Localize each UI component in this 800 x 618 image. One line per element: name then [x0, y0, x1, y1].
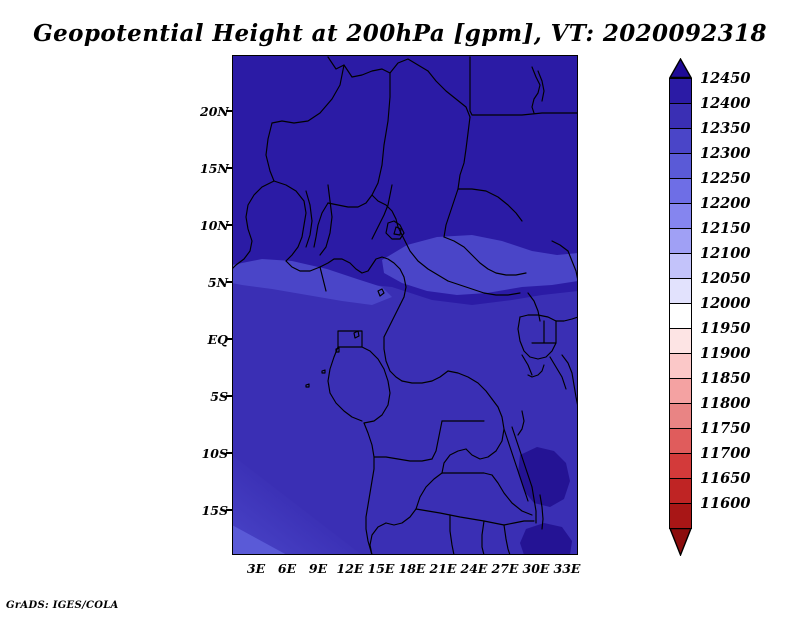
colorbar-band: [669, 253, 692, 279]
y-tick-mark-10N: [226, 224, 232, 226]
colorbar-tick-label: 11750: [700, 420, 750, 437]
colorbar-cap-bottom: [669, 528, 692, 556]
y-tick-mark-15N: [226, 167, 232, 169]
colorbar-band: [669, 303, 692, 329]
y-tick-mark-5N: [226, 281, 232, 283]
colorbar[interactable]: [669, 58, 692, 548]
colorbar-tick-label: 12450: [700, 70, 750, 87]
colorbar-tick-label: 12350: [700, 120, 750, 137]
colorbar-band: [669, 203, 692, 229]
y-tick-mark-15S: [226, 509, 232, 511]
credit-text: GrADS: IGES/COLA: [6, 600, 119, 611]
colorbar-band: [669, 478, 692, 504]
colorbar-band: [669, 328, 692, 354]
colorbar-tick-label: 12200: [700, 195, 750, 212]
y-tick-mark-EQ: [226, 338, 232, 340]
x-tick-label-6E: 6E: [271, 561, 303, 576]
colorbar-cap-top: [669, 58, 692, 78]
y-tick-mark-5S: [226, 395, 232, 397]
colorbar-tick-label: 11900: [700, 345, 750, 362]
colorbar-band: [669, 353, 692, 379]
colorbar-tick-label: 12000: [700, 295, 750, 312]
colorbar-tick-label: 12100: [700, 245, 750, 262]
colorbar-tick-label: 11850: [700, 370, 750, 387]
grads-plot-canvas: Geopotential Height at 200hPa [gpm], VT:…: [0, 0, 800, 618]
y-tick-label-10N: 10N: [200, 218, 228, 233]
colorbar-band: [669, 378, 692, 404]
x-tick-label-9E: 9E: [302, 561, 334, 576]
y-tick-label-10S: 10S: [197, 446, 228, 461]
x-tick-label-3E: 3E: [240, 561, 272, 576]
y-tick-label-15N: 15N: [200, 161, 228, 176]
colorbar-tick-label: 12400: [700, 95, 750, 112]
y-tick-label-5N: 5N: [200, 275, 228, 290]
colorbar-tick-label: 12250: [700, 170, 750, 187]
colorbar-band: [669, 103, 692, 129]
colorbar-band: [669, 153, 692, 179]
colorbar-band: [669, 178, 692, 204]
colorbar-tick-label: 12150: [700, 220, 750, 237]
colorbar-tick-label: 11700: [700, 445, 750, 462]
y-tick-label-EQ: EQ: [200, 332, 228, 347]
map-panel[interactable]: [232, 55, 578, 555]
y-tick-label-20N: 20N: [200, 104, 228, 119]
map-frame: [232, 55, 578, 555]
y-tick-mark-20N: [226, 110, 232, 112]
colorbar-band: [669, 128, 692, 154]
y-tick-mark-10S: [226, 452, 232, 454]
colorbar-band: [669, 428, 692, 454]
colorbar-band: [669, 503, 692, 529]
colorbar-tick-label: 11800: [700, 395, 750, 412]
colorbar-band: [669, 228, 692, 254]
y-tick-label-5S: 5S: [200, 389, 228, 404]
colorbar-tick-label: 11950: [700, 320, 750, 337]
y-tick-label-15S: 15S: [197, 503, 228, 518]
colorbar-tick-label: 12050: [700, 270, 750, 287]
colorbar-tick-label: 11600: [700, 495, 750, 512]
colorbar-band: [669, 453, 692, 479]
colorbar-band: [669, 278, 692, 304]
colorbar-tick-label: 11650: [700, 470, 750, 487]
x-tick-label-33E: 33E: [548, 561, 586, 576]
colorbar-tick-label: 12300: [700, 145, 750, 162]
colorbar-band: [669, 403, 692, 429]
colorbar-band: [669, 78, 692, 104]
page-title: Geopotential Height at 200hPa [gpm], VT:…: [0, 20, 800, 47]
